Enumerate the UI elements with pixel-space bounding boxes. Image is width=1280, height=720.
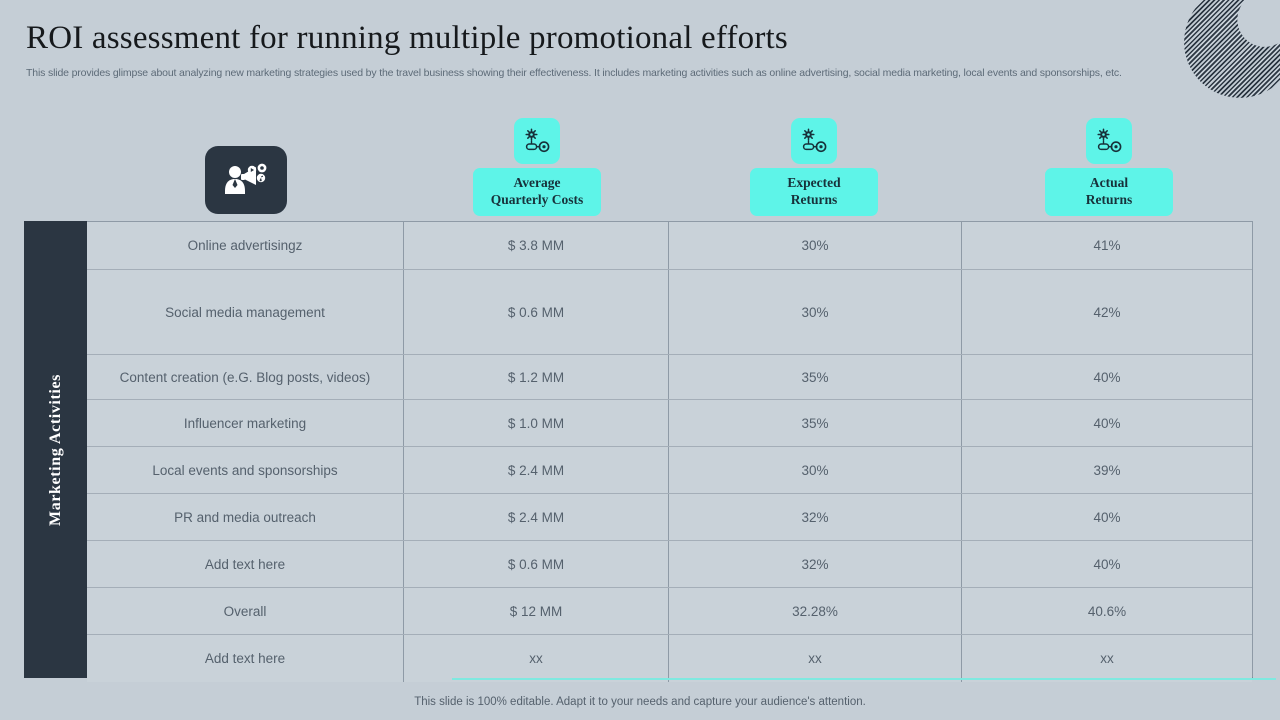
table-row[interactable]: Influencer marketing $ 1.0 MM 35% 40% — [87, 400, 1252, 447]
cell-activity: Add text here — [87, 635, 404, 682]
table-row[interactable]: Add text here xx xx xx — [87, 635, 1252, 682]
cell-expected-returns: 30% — [669, 447, 962, 493]
cell-activity: Online advertisingz — [87, 222, 404, 269]
cell-actual-returns: 40.6% — [962, 588, 1252, 634]
cell-expected-returns: 30% — [669, 222, 962, 269]
cell-expected-returns: 32% — [669, 494, 962, 540]
cell-expected-returns: 32% — [669, 541, 962, 587]
footer-note: This slide is 100% editable. Adapt it to… — [0, 696, 1280, 708]
column-header-average-quarterly-costs: Average Quarterly Costs — [473, 118, 601, 216]
table-row-overall[interactable]: Overall $ 12 MM 32.28% 40.6% — [87, 588, 1252, 635]
table-row[interactable]: PR and media outreach $ 2.4 MM 32% 40% — [87, 494, 1252, 541]
cell-average-quarterly-costs: $ 2.4 MM — [404, 447, 669, 493]
cell-activity: Content creation (e.G. Blog posts, video… — [87, 355, 404, 399]
cell-average-quarterly-costs: $ 2.4 MM — [404, 494, 669, 540]
cell-actual-returns: 42% — [962, 270, 1252, 354]
cell-expected-returns: 32.28% — [669, 588, 962, 634]
column-header-label: Average Quarterly Costs — [473, 168, 601, 216]
table-row[interactable]: Online advertisingz $ 3.8 MM 30% 41% — [87, 222, 1252, 270]
cell-average-quarterly-costs: xx — [404, 635, 669, 682]
cell-expected-returns: 30% — [669, 270, 962, 354]
cell-average-quarterly-costs: $ 0.6 MM — [404, 270, 669, 354]
column-header-label: Expected Returns — [750, 168, 878, 216]
cell-activity: Local events and sponsorships — [87, 447, 404, 493]
column-icon-box — [791, 118, 837, 164]
cell-activity: Add text here — [87, 541, 404, 587]
cell-actual-returns: 40% — [962, 355, 1252, 399]
row-group-label: Marketing Activities — [47, 374, 65, 526]
cell-activity: Overall — [87, 588, 404, 634]
table-row[interactable]: Local events and sponsorships $ 2.4 MM 3… — [87, 447, 1252, 494]
column-header-expected-returns: Expected Returns — [750, 118, 878, 216]
column-header-label: Actual Returns — [1045, 168, 1173, 216]
cell-actual-returns: 40% — [962, 494, 1252, 540]
column-icon-box — [1086, 118, 1132, 164]
cell-actual-returns: xx — [962, 635, 1252, 682]
page-title: ROI assessment for running multiple prom… — [26, 20, 1240, 57]
table-row[interactable]: Content creation (e.G. Blog posts, video… — [87, 355, 1252, 400]
slide-header: ROI assessment for running multiple prom… — [26, 20, 1240, 80]
table-body: Online advertisingz $ 3.8 MM 30% 41% Soc… — [87, 221, 1253, 678]
table-bottom-accent — [452, 678, 1276, 680]
process-gear-node-icon — [801, 128, 827, 154]
column-header-actual-returns: Actual Returns — [1045, 118, 1173, 216]
cell-actual-returns: 39% — [962, 447, 1252, 493]
roi-table: Marketing Activities Online advertisingz… — [24, 221, 1252, 678]
cell-expected-returns: 35% — [669, 355, 962, 399]
column-icon-box — [514, 118, 560, 164]
process-gear-node-icon — [524, 128, 550, 154]
cell-activity: Social media management — [87, 270, 404, 354]
cell-expected-returns: 35% — [669, 400, 962, 446]
table-row[interactable]: Social media management $ 0.6 MM 30% 42% — [87, 270, 1252, 355]
cell-activity: Influencer marketing — [87, 400, 404, 446]
cell-expected-returns: xx — [669, 635, 962, 682]
cell-actual-returns: 40% — [962, 541, 1252, 587]
process-gear-node-icon — [1096, 128, 1122, 154]
table-row[interactable]: Add text here $ 0.6 MM 32% 40% — [87, 541, 1252, 588]
cell-actual-returns: 41% — [962, 222, 1252, 269]
cell-actual-returns: 40% — [962, 400, 1252, 446]
column-headers: Average Quarterly Costs — [0, 118, 1280, 220]
cell-average-quarterly-costs: $ 12 MM — [404, 588, 669, 634]
cell-average-quarterly-costs: $ 1.2 MM — [404, 355, 669, 399]
cell-average-quarterly-costs: $ 0.6 MM — [404, 541, 669, 587]
page-subtitle: This slide provides glimpse about analyz… — [26, 66, 1226, 80]
cell-average-quarterly-costs: $ 3.8 MM — [404, 222, 669, 269]
cell-activity: PR and media outreach — [87, 494, 404, 540]
cell-average-quarterly-costs: $ 1.0 MM — [404, 400, 669, 446]
row-group-rail: Marketing Activities — [24, 221, 87, 678]
